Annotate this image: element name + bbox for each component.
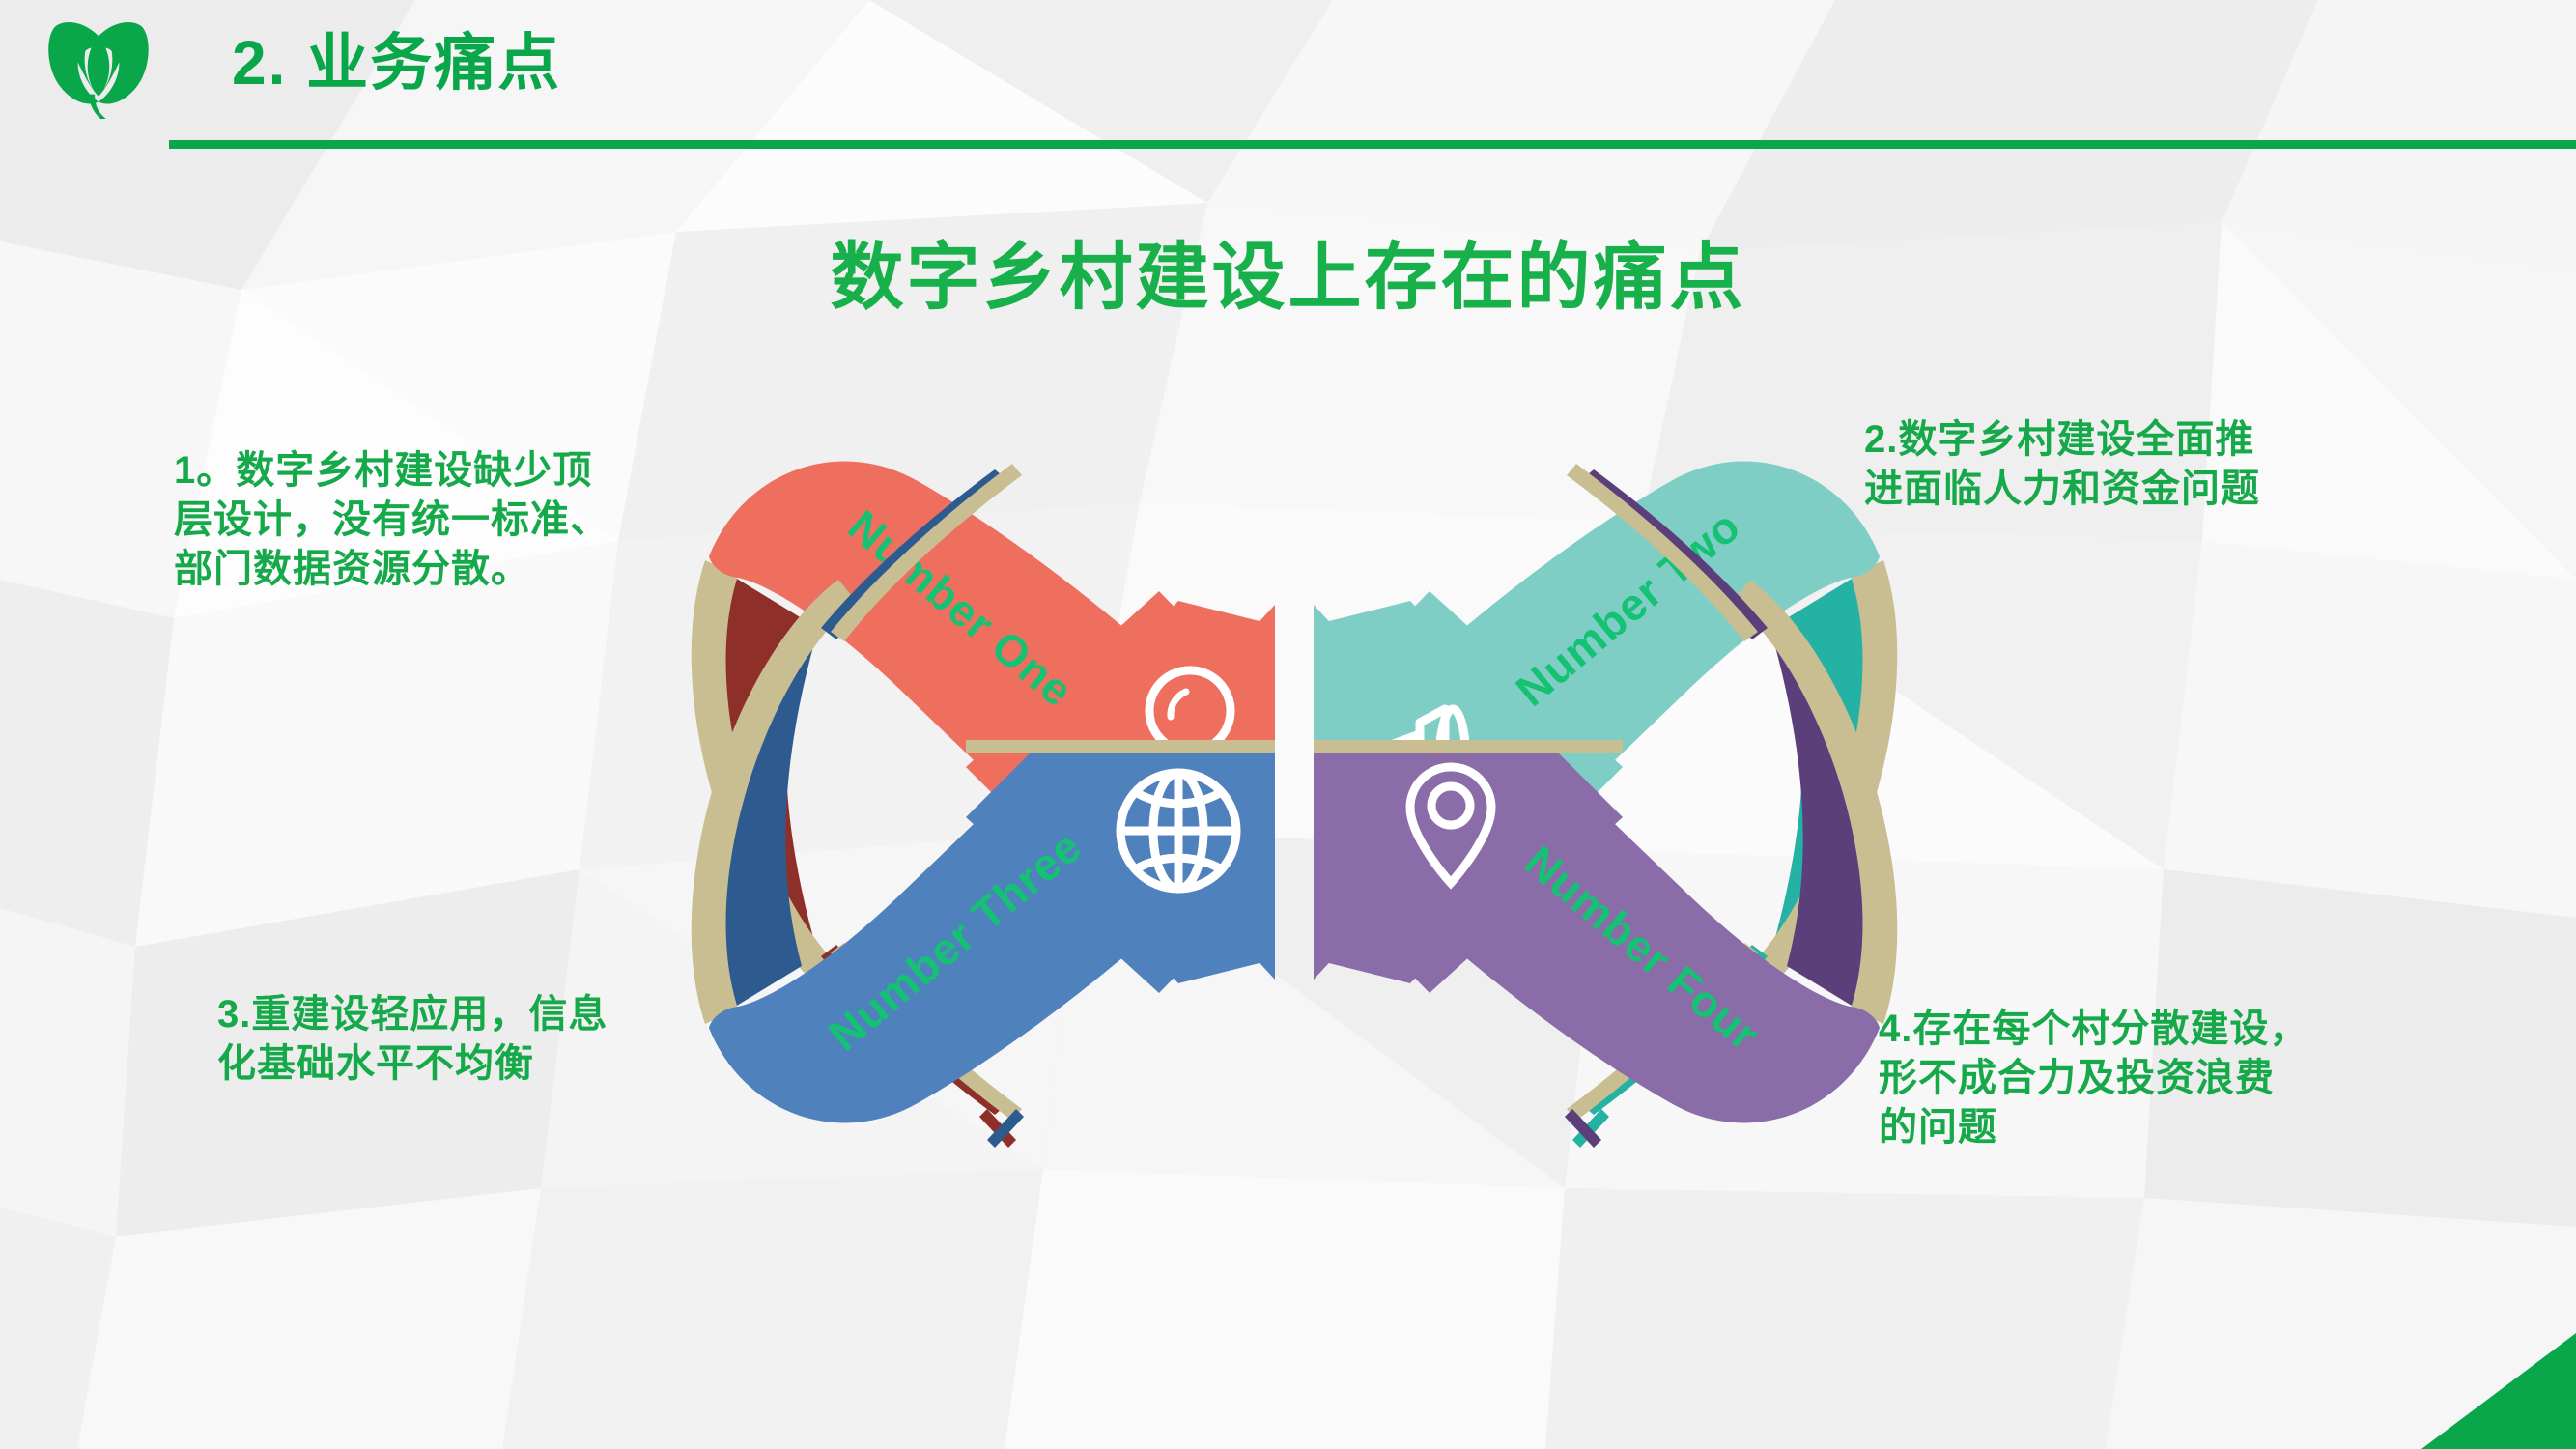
slide-header: 2. 业务痛点 [0, 0, 2576, 145]
header-divider [169, 140, 2576, 149]
callout-text-4: 4.存在每个村分散建设， 形不成合力及投资浪费 的问题 [1879, 1005, 2458, 1153]
four-arrow-ribbon-diagram: Number One Numbe [676, 377, 1912, 1207]
callout-text-1: 1。数字乡村建设缺少顶 层设计，没有统一标准、 部门数据资源分散。 [174, 446, 715, 595]
segment-four-base-edge [1314, 740, 1623, 753]
ribbon-crossings [979, 1109, 1609, 1148]
slide-canvas: 2. 业务痛点 数字乡村建设上存在的痛点 [0, 0, 2576, 1449]
leaf-logo-icon [41, 8, 156, 119]
callout-3-line-2: 化基础水平不均衡 [217, 1042, 534, 1085]
callout-4-line-2: 形不成合力及投资浪费 [1879, 1057, 2275, 1099]
callout-text-3: 3.重建设轻应用，信息 化基础水平不均衡 [217, 990, 739, 1089]
green-corner-triangle [2335, 1333, 2576, 1449]
globe-icon [1120, 773, 1236, 889]
callout-1-line-3: 部门数据资源分散。 [174, 548, 530, 590]
callout-2-line-1: 2.数字乡村建设全面推 [1864, 418, 2254, 461]
segment-three-base-edge [966, 740, 1275, 753]
page-title: 2. 业务痛点 [232, 14, 561, 102]
callout-3-line-1: 3.重建设轻应用，信息 [217, 993, 608, 1036]
callout-1-line-1: 1。数字乡村建设缺少顶 [174, 449, 592, 492]
callout-1-line-2: 层设计，没有统一标准、 [174, 498, 609, 541]
main-heading: 数字乡村建设上存在的痛点 [0, 217, 2576, 324]
callout-4-line-3: 的问题 [1879, 1106, 1997, 1149]
callout-2-line-2: 进面临人力和资金问题 [1864, 468, 2260, 510]
callout-4-line-1: 4.存在每个村分散建设， [1879, 1008, 2308, 1050]
callout-text-2: 2.数字乡村建设全面推 进面临人力和资金问题 [1864, 415, 2444, 514]
